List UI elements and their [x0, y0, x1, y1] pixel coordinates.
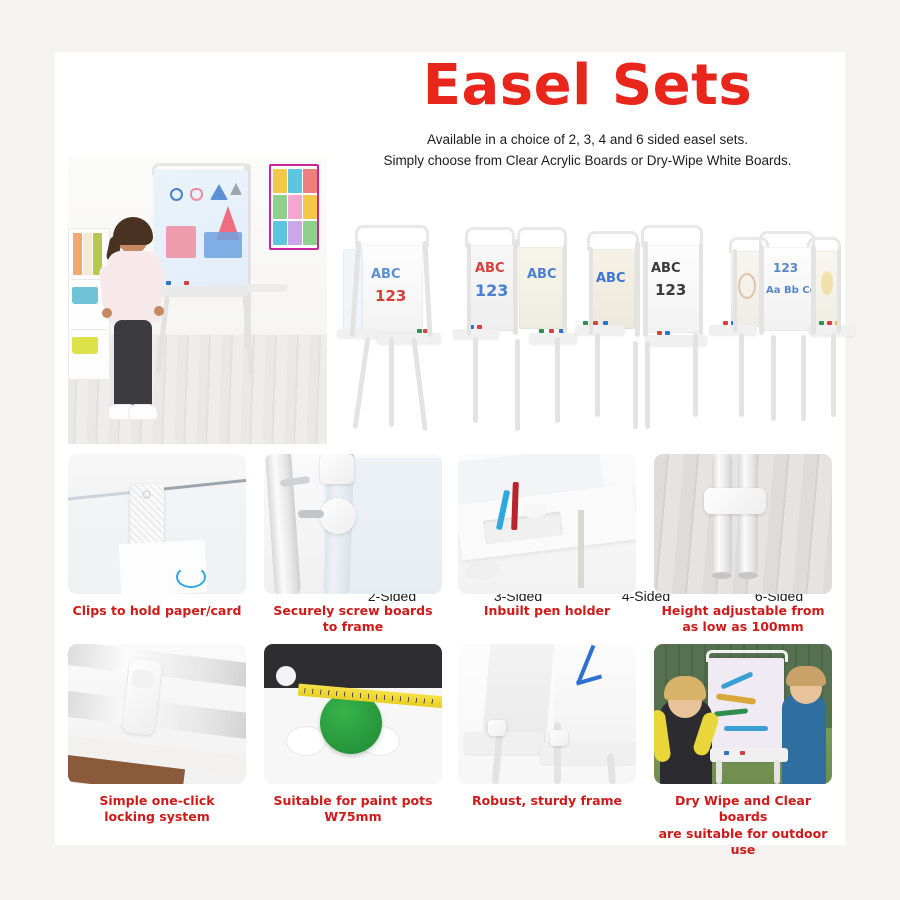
subtitle: Available in a choice of 2, 3, 4 and 6 s…	[330, 130, 845, 172]
variant-2-text-bottom: 123	[375, 287, 406, 305]
variant-2-panel: ABC 123	[361, 245, 423, 333]
clip-detail-thumb	[68, 454, 246, 594]
folder-orange	[73, 233, 82, 275]
frame-detail-thumb	[458, 644, 636, 784]
variant-3-panel-b: ABC	[519, 247, 563, 329]
infographic-page: Easel Sets Available in a choice of 2, 3…	[0, 0, 900, 900]
feature-outdoor-caption: Dry Wipe and Clear boards are suitable f…	[654, 793, 832, 858]
height-clamp-icon	[704, 488, 766, 514]
variant-3-panel-a: ABC 123	[469, 245, 517, 331]
hero-photo	[68, 156, 327, 444]
height-adjust-thumb	[654, 454, 832, 594]
variant-3-sided[interactable]: ABC 123 ABC	[459, 225, 577, 440]
feature-screw[interactable]: Securely screw boards to frame	[264, 454, 442, 636]
hero-child	[102, 222, 170, 438]
tub-blue	[72, 287, 98, 304]
subtitle-line-2: Simply choose from Clear Acrylic Boards …	[330, 151, 845, 172]
variant-3-text-top: ABC	[475, 261, 505, 276]
children-outdoors-thumb	[654, 644, 832, 784]
hero-easel-arm	[244, 284, 288, 292]
feature-height-caption: Height adjustable from as low as 100mm	[654, 603, 832, 636]
page-title: Easel Sets	[330, 57, 845, 116]
folder-cream	[83, 233, 92, 275]
variant-2-text-top: ABC	[371, 267, 401, 282]
variant-6-panel-b: 123 Aa Bb Cc	[761, 247, 813, 331]
variant-6-text-bottom: Aa Bb Cc	[766, 285, 816, 296]
screw-detail-thumb	[264, 454, 442, 594]
variant-4-text-bottom: 123	[655, 281, 686, 299]
content-card: Easel Sets Available in a choice of 2, 3…	[55, 52, 845, 845]
feature-pen-holder[interactable]: Inbuilt pen holder	[458, 454, 636, 619]
feature-row-2: Simple one-click locking system	[68, 644, 832, 834]
feature-locking[interactable]: Simple one-click locking system	[68, 644, 246, 826]
variant-4-panel-a: ABC	[591, 249, 635, 329]
feature-frame[interactable]: Robust, sturdy frame	[458, 644, 636, 809]
feature-paint-pots-caption: Suitable for paint pots W75mm	[264, 793, 442, 826]
feature-outdoor[interactable]: Dry Wipe and Clear boards are suitable f…	[654, 644, 832, 858]
feature-screw-caption: Securely screw boards to frame	[264, 603, 442, 636]
header: Easel Sets Available in a choice of 2, 3…	[330, 57, 845, 172]
feature-locking-caption: Simple one-click locking system	[68, 793, 246, 826]
variant-4-panel-b: ABC 123	[643, 245, 701, 333]
feature-clips[interactable]: Clips to hold paper/card	[68, 454, 246, 619]
variant-gallery: ABC 123 2-Sided	[333, 220, 845, 440]
variant-6-sided[interactable]: 123 Aa Bb Cc	[715, 225, 845, 440]
thumbscrew-icon	[320, 498, 356, 534]
tub-yellow	[72, 337, 98, 354]
variant-3-text-bottom: 123	[475, 281, 508, 300]
pen-holder-thumb	[458, 454, 636, 594]
feature-clips-caption: Clips to hold paper/card	[68, 603, 246, 619]
variant-4-sided[interactable]: ABC ABC 123	[583, 225, 709, 440]
feature-grid: Clips to hold paper/card	[68, 454, 832, 834]
feature-pen-holder-caption: Inbuilt pen holder	[458, 603, 636, 619]
feature-height[interactable]: Height adjustable from as low as 100mm	[654, 454, 832, 636]
feature-frame-caption: Robust, sturdy frame	[458, 793, 636, 809]
locking-clamp-thumb	[68, 644, 246, 784]
variant-2-sided[interactable]: ABC 123	[337, 225, 447, 440]
variant-4-text-top: ABC	[651, 261, 681, 276]
feature-row-1: Clips to hold paper/card	[68, 454, 832, 644]
variant-6-text-top: 123	[773, 261, 798, 275]
paint-pot-thumb	[264, 644, 442, 784]
subtitle-line-1: Available in a choice of 2, 3, 4 and 6 s…	[330, 130, 845, 151]
multiplication-poster	[269, 164, 319, 250]
variant-3-text-clear: ABC	[527, 267, 557, 282]
feature-paint-pots[interactable]: Suitable for paint pots W75mm	[264, 644, 442, 826]
variant-4-text-clear: ABC	[596, 271, 626, 286]
